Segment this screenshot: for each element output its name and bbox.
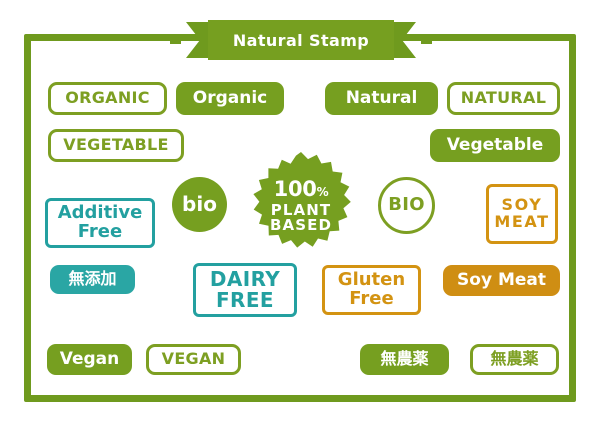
stamp-mutenka[interactable]: 無添加 — [50, 265, 135, 294]
stamp-vegan-outline[interactable]: VEGAN — [146, 344, 241, 375]
plant-line-2: BASED — [270, 218, 332, 233]
ribbon-dash-left — [170, 37, 181, 44]
stamp-organic-outline[interactable]: ORGANIC — [48, 82, 167, 115]
ribbon-title: Natural Stamp — [233, 31, 369, 50]
stamp-munouyaku-outline[interactable]: 無農薬 — [470, 344, 559, 375]
stamp-bio-fill[interactable]: bio — [172, 177, 227, 232]
stamp-vegetable-outline[interactable]: VEGETABLE — [48, 129, 184, 162]
ribbon-banner: Natural Stamp — [170, 20, 432, 60]
stamp-soy-meat-outline[interactable]: SOY MEAT — [486, 184, 558, 244]
stamp-organic-fill[interactable]: Organic — [176, 82, 284, 115]
stamp-natural-outline[interactable]: NATURAL — [447, 82, 560, 115]
stamp-munouyaku-fill[interactable]: 無農薬 — [360, 344, 449, 375]
ribbon-body: Natural Stamp — [208, 20, 394, 60]
stamp-natural-fill[interactable]: Natural — [325, 82, 438, 115]
stamp-vegan-fill[interactable]: Vegan — [47, 344, 132, 375]
stamp-dairy-free[interactable]: DAIRY FREE — [193, 263, 297, 317]
stamp-gluten-free[interactable]: Gluten Free — [322, 265, 421, 315]
plant-percent-symbol: % — [317, 185, 329, 199]
stamp-additive-free[interactable]: Additive Free — [45, 198, 155, 248]
stamp-bio-outline[interactable]: BIO — [378, 177, 435, 234]
plant-badge-text: 100% PLANT BASED — [245, 150, 357, 262]
plant-percent: 100% — [274, 179, 329, 200]
ribbon-dash-right — [421, 37, 432, 44]
stamp-soy-meat-fill[interactable]: Soy Meat — [443, 265, 560, 296]
stamp-vegetable-fill[interactable]: Vegetable — [430, 129, 560, 162]
plant-percent-value: 100 — [274, 177, 317, 201]
stamp-100-plant-based[interactable]: 100% PLANT BASED — [245, 150, 357, 262]
